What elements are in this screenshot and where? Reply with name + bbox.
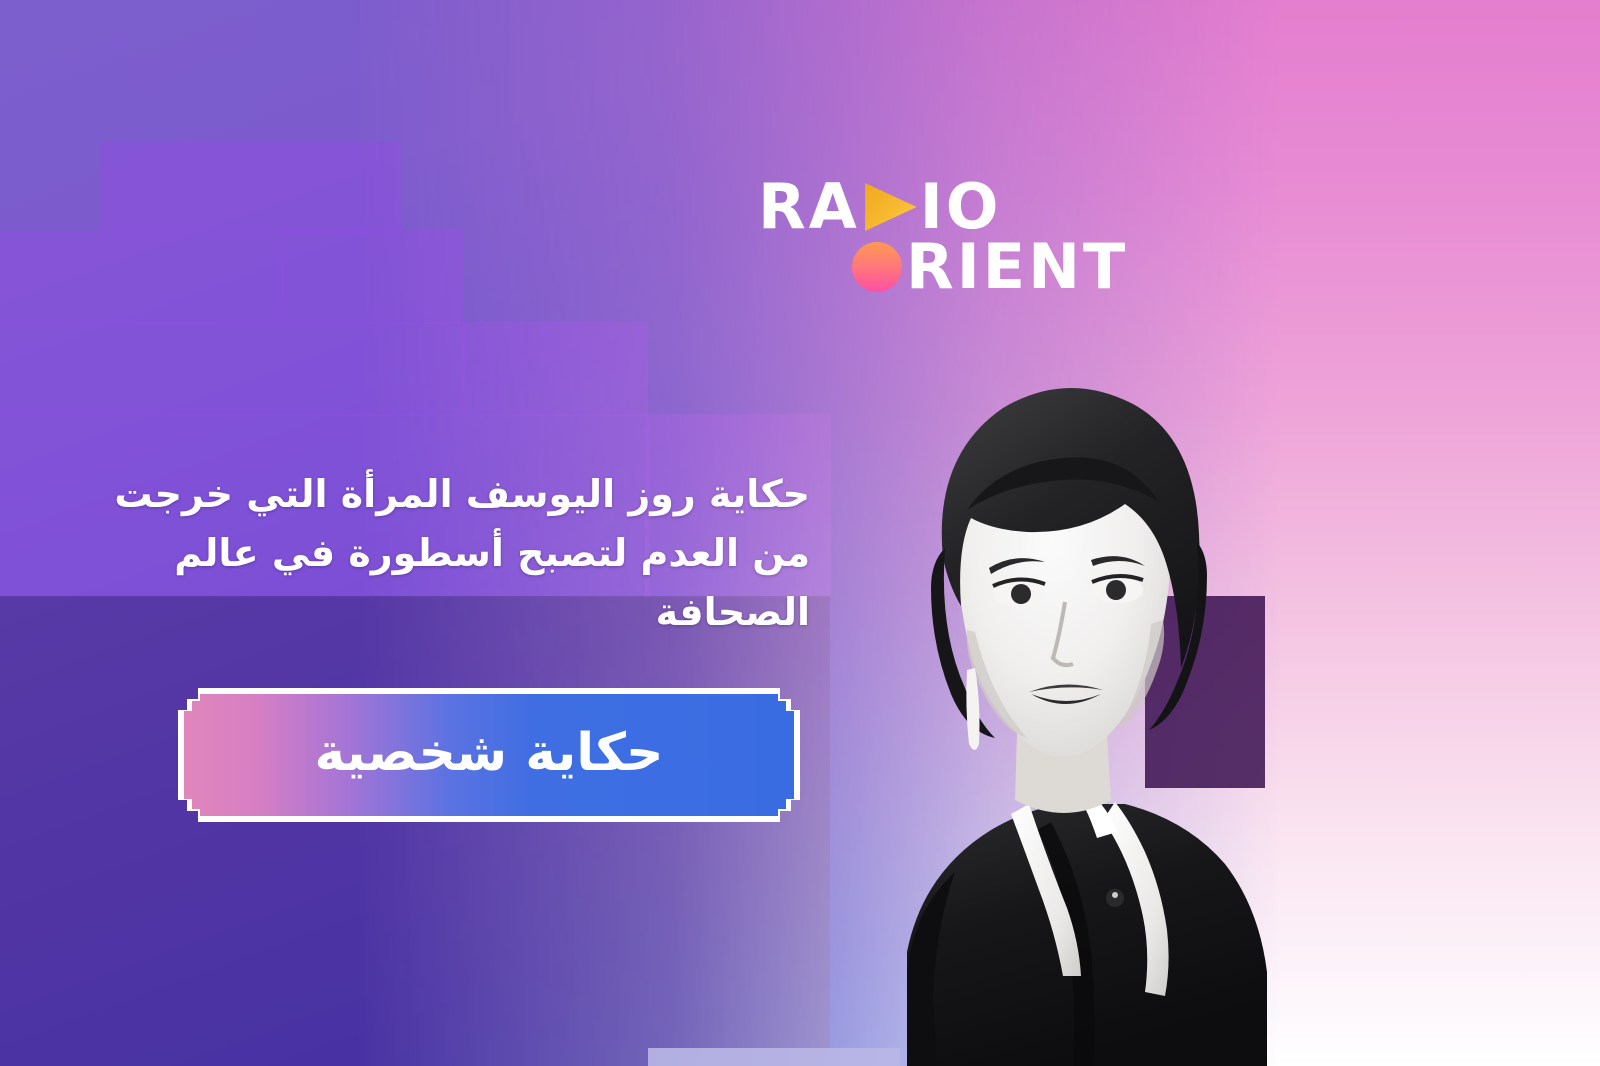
portrait-image xyxy=(815,352,1285,1066)
radio-orient-logo[interactable]: RA IO RIENT xyxy=(748,168,1148,298)
promo-card: RA IO RIENT حكاية روز اليوسف المرأة التي… xyxy=(0,0,1600,1066)
logo-text-io: IO xyxy=(920,176,1002,238)
play-triangle-icon xyxy=(862,182,918,232)
category-badge[interactable]: حكاية شخصية xyxy=(178,688,800,822)
logo-line-1: RA IO xyxy=(758,176,1002,238)
logo-text-rient: RIENT xyxy=(906,236,1128,298)
logo-text-ra: RA xyxy=(758,176,860,238)
circle-dot-icon xyxy=(852,242,902,292)
portrait-body xyxy=(907,804,1267,1066)
badge-label: حكاية شخصية xyxy=(178,688,800,822)
logo-line-2: RIENT xyxy=(850,236,1128,298)
page-title: حكاية روز اليوسف المرأة التي خرجت من الع… xyxy=(98,465,810,642)
